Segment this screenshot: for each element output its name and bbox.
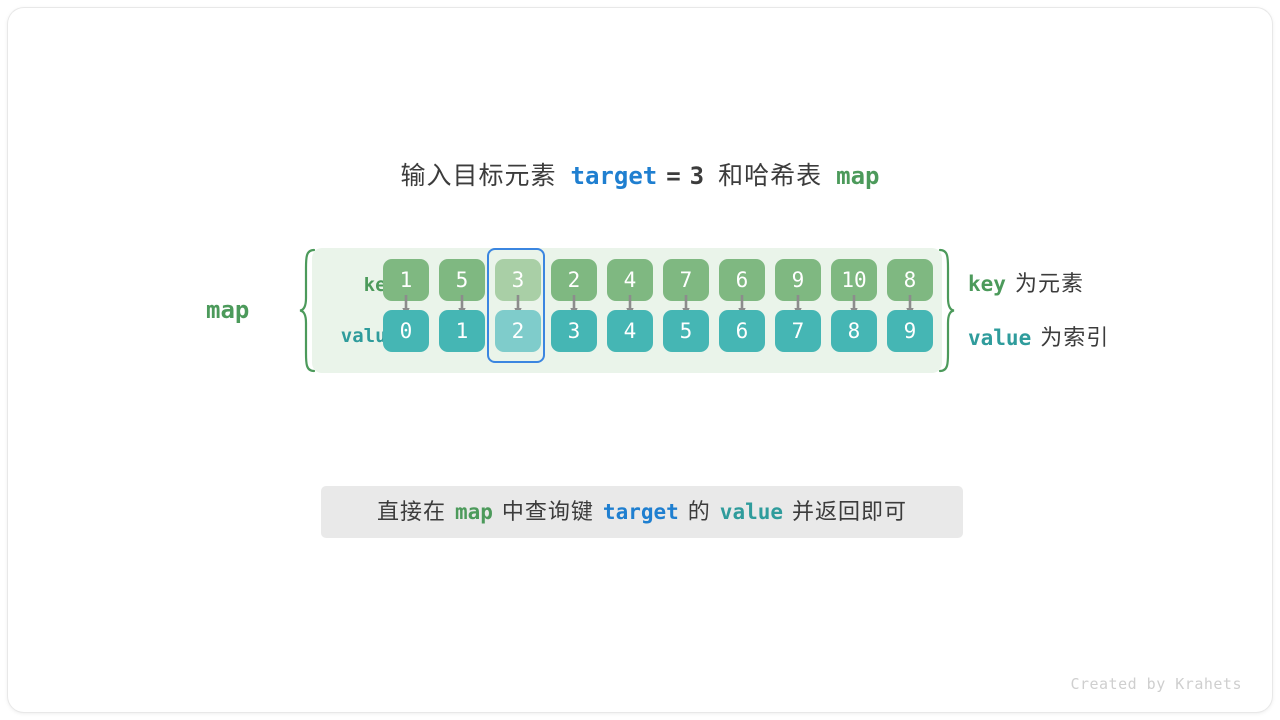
caption-part3: 的: [688, 499, 711, 524]
caption-map-code: map: [455, 500, 493, 524]
value-cell[interactable]: 0: [383, 310, 429, 352]
legend-value-text: 为索引: [1040, 325, 1109, 350]
legend: key为元素 value为索引: [968, 266, 1198, 374]
legend-value-code: value: [968, 326, 1031, 350]
caption-target-code: target: [603, 500, 679, 524]
value-cell[interactable]: 1: [439, 310, 485, 352]
caption-part4: 并返回即可: [792, 499, 907, 524]
value-cell[interactable]: 3: [551, 310, 597, 352]
footer-credit: Created by Krahets: [1070, 675, 1242, 693]
title-middle-text: 和哈希表: [718, 162, 822, 190]
caption-box: 直接在map中查询键target的value并返回即可: [321, 486, 963, 538]
right-bracket-icon: [938, 248, 956, 373]
diagram-title: 输入目标元素target=3和哈希表map: [8, 156, 1272, 192]
title-prefix-text: 输入目标元素: [401, 162, 557, 190]
caption-part2: 中查询键: [502, 499, 594, 524]
title-map-code: map: [836, 162, 879, 190]
legend-key-code: key: [968, 272, 1006, 296]
map-label: map: [206, 296, 249, 324]
caption-value-code: value: [720, 500, 783, 524]
left-bracket-icon: [298, 248, 316, 373]
value-cell[interactable]: 4: [607, 310, 653, 352]
value-cell[interactable]: 7: [775, 310, 821, 352]
caption-part1: 直接在: [377, 499, 446, 524]
legend-key-text: 为元素: [1015, 271, 1084, 296]
legend-row-key: key为元素: [968, 266, 1198, 298]
value-cell[interactable]: 5: [663, 310, 709, 352]
legend-row-value: value为索引: [968, 320, 1198, 352]
value-cell[interactable]: 9: [887, 310, 933, 352]
diagram-card: 输入目标元素target=3和哈希表map map key value 1 0: [8, 8, 1272, 712]
value-cell[interactable]: 6: [719, 310, 765, 352]
hash-map-panel: key value 1 0 5 1: [298, 248, 956, 373]
value-cell[interactable]: 8: [831, 310, 877, 352]
title-target-code: target: [571, 162, 658, 190]
title-equals-sign: =: [666, 162, 680, 190]
value-cell[interactable]: 2: [495, 310, 541, 352]
title-target-value: 3: [690, 162, 704, 190]
